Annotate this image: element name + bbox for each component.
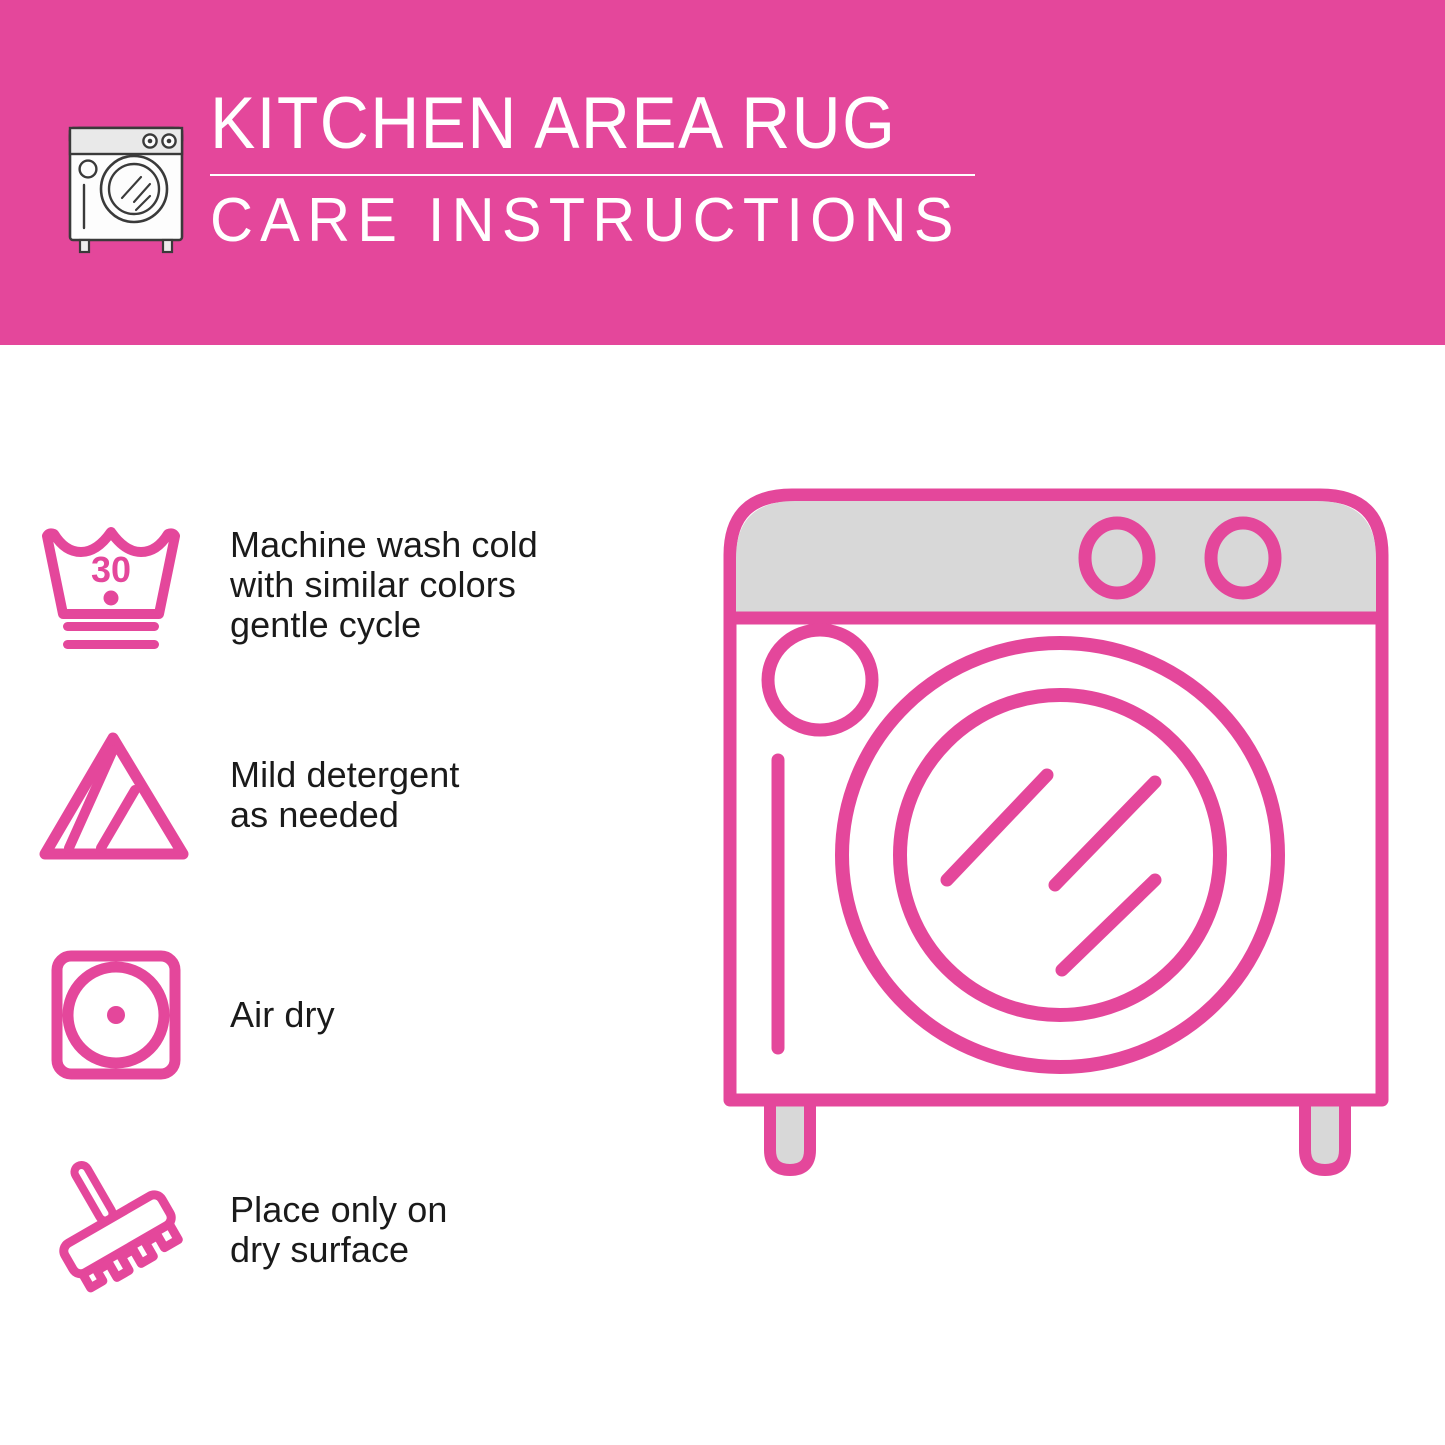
header-text-block: KITCHEN AREA RUG CARE INSTRUCTIONS <box>210 86 1310 256</box>
title-divider <box>210 174 975 176</box>
broom-icon <box>0 1140 230 1320</box>
list-item-label: Air dry <box>230 995 335 1035</box>
care-instructions-infographic: KITCHEN AREA RUG CARE INSTRUCTIONS 30 <box>0 0 1445 1445</box>
wash-temperature-value: 30 <box>91 549 131 590</box>
label-line: gentle cycle <box>230 605 538 645</box>
bleach-triangle-icon <box>0 705 230 885</box>
label-line: as needed <box>230 795 460 835</box>
page-title: KITCHEN AREA RUG <box>210 86 1233 162</box>
label-line: Air dry <box>230 995 335 1035</box>
care-instruction-list: 30 Machine wash cold with similar colors… <box>0 345 690 1445</box>
washing-machine-icon <box>62 106 190 254</box>
list-item-label: Place only on dry surface <box>230 1190 447 1270</box>
label-line: Machine wash cold <box>230 525 538 565</box>
list-item: Air dry <box>0 920 690 1110</box>
list-item: 30 Machine wash cold with similar colors… <box>0 490 690 680</box>
list-item-label: Mild detergent as needed <box>230 755 460 835</box>
list-item: Mild detergent as needed <box>0 700 690 890</box>
tumble-dry-icon <box>0 925 230 1105</box>
wash-tub-30-gentle-icon: 30 <box>0 495 230 675</box>
list-item: Place only on dry surface <box>0 1135 690 1325</box>
page-subtitle: CARE INSTRUCTIONS <box>210 186 1266 256</box>
list-item-label: Machine wash cold with similar colors ge… <box>230 525 538 645</box>
large-washing-machine-illustration <box>700 470 1400 1370</box>
header-banner: KITCHEN AREA RUG CARE INSTRUCTIONS <box>0 0 1445 345</box>
label-line: with similar colors <box>230 565 538 605</box>
label-line: Place only on <box>230 1190 447 1230</box>
label-line: dry surface <box>230 1230 447 1270</box>
label-line: Mild detergent <box>230 755 460 795</box>
